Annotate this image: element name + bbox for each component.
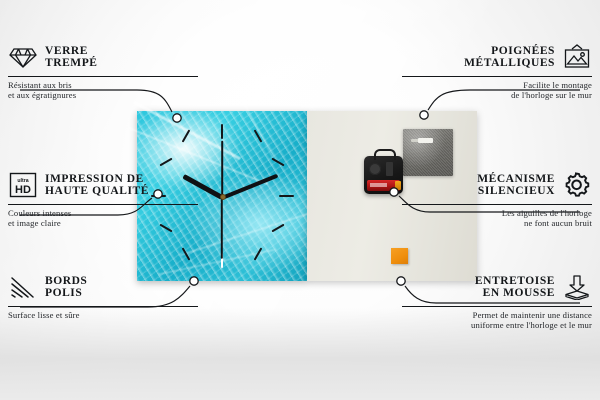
callout-impression-haute-qualite: ultra HD IMPRESSION DE HAUTE QUALITÉ Cou…	[8, 170, 198, 229]
ultra-hd-icon: ultra HD	[8, 170, 38, 200]
hanger-plate-icon	[403, 129, 453, 176]
callout-title: POIGNÉES MÉTALLIQUES	[464, 45, 555, 70]
divider	[402, 76, 592, 77]
callout-desc-line1: Couleurs intenses	[8, 208, 198, 218]
diamond-icon	[8, 42, 38, 72]
infographic-canvas: VERRE TREMPÉ Résistant aux bris et aux é…	[0, 0, 600, 400]
callout-title: ENTRETOISE EN MOUSSE	[475, 275, 555, 300]
callout-desc-line1: Résistant aux bris	[8, 80, 198, 90]
callout-title: BORDS POLIS	[45, 275, 87, 300]
movement-dial	[369, 163, 381, 175]
divider	[8, 76, 198, 77]
callout-desc-line2: et aux égratignures	[8, 90, 198, 100]
clock-tick-11	[182, 129, 191, 142]
clock-tick-2	[271, 158, 284, 167]
clock-tick-10	[159, 158, 172, 167]
gear-icon	[562, 170, 592, 200]
callout-title: MÉCANISME SILENCIEUX	[477, 173, 555, 198]
clock-second-hand-tail	[221, 141, 223, 197]
foam-spacer	[391, 248, 408, 264]
clock-movement	[364, 156, 403, 194]
callout-verre-trempe: VERRE TREMPÉ Résistant aux bris et aux é…	[8, 42, 198, 101]
battery	[367, 180, 400, 191]
callout-desc-line2: et image claire	[8, 218, 198, 228]
divider	[402, 306, 592, 307]
callout-desc-line2: uniforme entre l'horloge et le mur	[402, 320, 592, 330]
picture-frame-hook-icon	[562, 42, 592, 72]
svg-text:HD: HD	[15, 184, 31, 196]
callout-desc-line2: de l'horloge sur le mur	[402, 90, 592, 100]
divider	[8, 204, 198, 205]
hanging-loop	[374, 149, 396, 160]
callout-desc-line1: Les aiguilles de l'horloge	[402, 208, 592, 218]
callout-desc-line1: Surface lisse et sûre	[8, 310, 198, 320]
arrow-down-pad-icon	[562, 272, 592, 302]
diagonal-lines-icon	[8, 272, 38, 302]
callout-title: VERRE TREMPÉ	[45, 45, 98, 70]
callout-bords-polis: BORDS POLIS Surface lisse et sûre	[8, 272, 198, 320]
callout-entretoise-en-mousse: ENTRETOISE EN MOUSSE Permet de maintenir…	[402, 272, 592, 331]
divider	[8, 306, 198, 307]
callout-desc-line1: Permet de maintenir une distance	[402, 310, 592, 320]
clock-tick-3	[279, 195, 294, 197]
clock-tick-12	[221, 124, 223, 139]
clock-second-hand	[221, 197, 223, 259]
callout-mecanisme-silencieux: MÉCANISME SILENCIEUX Les aiguilles de l'…	[402, 170, 592, 229]
divider	[402, 204, 592, 205]
callout-desc-line1: Facilite le montage	[402, 80, 592, 90]
callout-title: IMPRESSION DE HAUTE QUALITÉ	[45, 173, 149, 198]
clock-center-pin	[220, 194, 226, 200]
movement-shaft	[386, 162, 393, 176]
callout-poignees-metalliques: POIGNÉES MÉTALLIQUES Facilite le montage…	[402, 42, 592, 101]
callout-desc-line2: ne font aucun bruit	[402, 218, 592, 228]
